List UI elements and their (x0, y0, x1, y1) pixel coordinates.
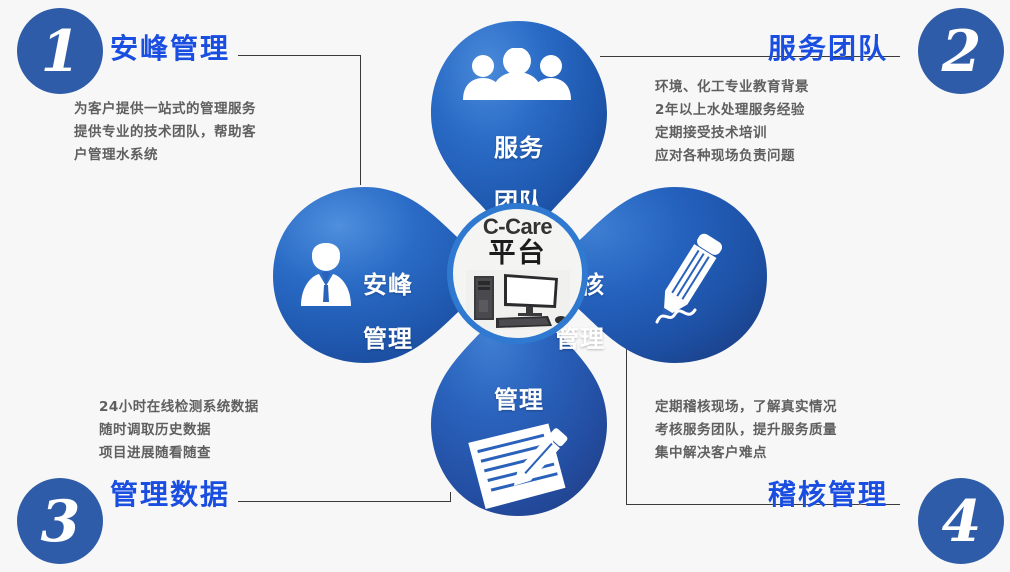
section-body-1: 为客户提供一站式的管理服务 提供专业的技术团队，帮助客 户管理水系统 (74, 98, 256, 167)
badge-number-text: 4 (942, 493, 981, 550)
number-badge-1: 1 (17, 8, 103, 94)
section-title-3: 管理数据 (110, 473, 230, 513)
section-body-3: 24小时在线检测系统数据 随时调取历史数据 项目进展随看随查 (99, 396, 259, 465)
body-line: 项目进展随看随查 (99, 442, 259, 465)
number-badge-3: 3 (17, 478, 103, 564)
hub-english-label: C-Care (483, 216, 552, 238)
badge-number-text: 1 (41, 23, 80, 80)
body-line: 提供专业的技术团队，帮助客 (74, 121, 256, 144)
body-line: 随时调取历史数据 (99, 419, 259, 442)
body-line: 为客户提供一站式的管理服务 (74, 98, 256, 121)
badge-number-text: 2 (942, 23, 981, 80)
center-hub: C-Care 平台 (447, 203, 588, 344)
infographic-canvas: 1 2 3 4 安峰管理 服务团队 管理数据 稽核管理 为客户提供一站式的管理服… (0, 0, 1010, 572)
hub-chinese-label: 平台 (489, 240, 547, 267)
body-line: 户管理水系统 (74, 144, 256, 167)
number-badge-2: 2 (918, 8, 1004, 94)
section-title-4: 稽核管理 (768, 473, 888, 513)
section-title-2: 服务团队 (768, 27, 888, 67)
number-badge-4: 4 (918, 478, 1004, 564)
body-line: 24小时在线检测系统数据 (99, 396, 259, 419)
desktop-computer-photo (466, 270, 570, 330)
section-title-1: 安峰管理 (110, 27, 230, 67)
badge-number-text: 3 (41, 493, 80, 550)
